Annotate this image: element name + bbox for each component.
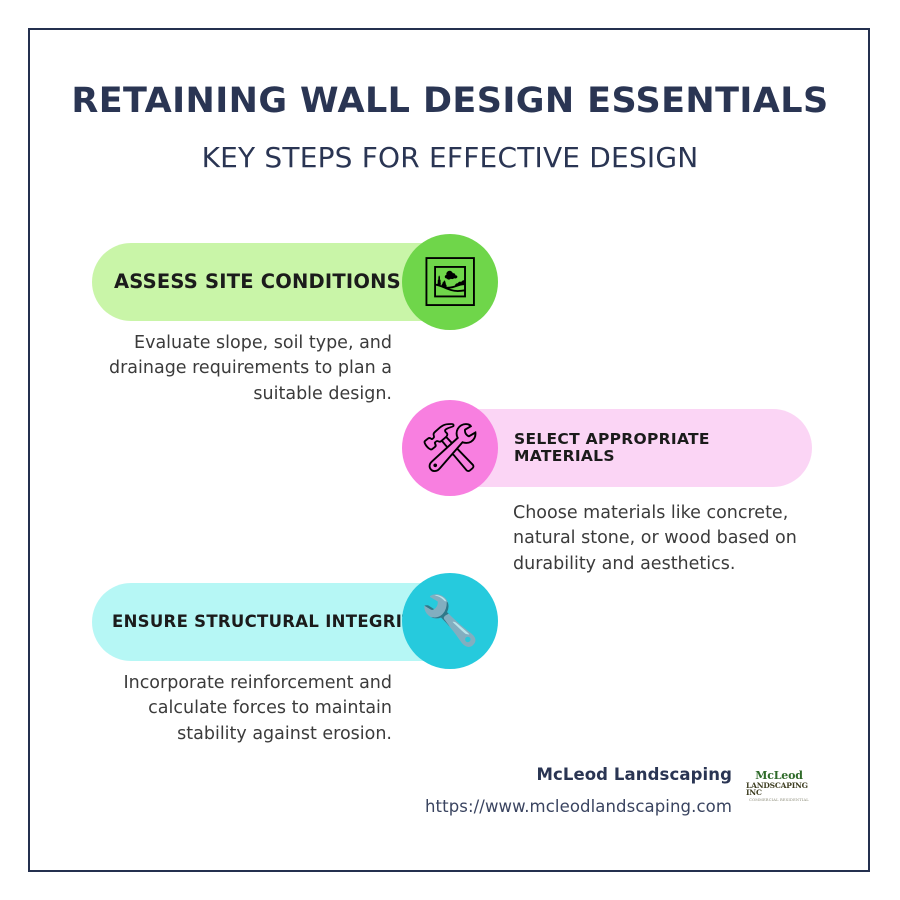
brand-name-row: McLeod Landscaping	[380, 765, 732, 784]
step-3-label: ENSURE STRUCTURAL INTEGRITY	[112, 613, 426, 631]
page-subtitle: KEY STEPS FOR EFFECTIVE DESIGN	[50, 143, 850, 174]
logo-secondary-text: LANDSCAPING INC	[746, 782, 812, 797]
step-2-icon-circle[interactable]: 🛠	[402, 400, 498, 496]
header: RETAINING WALL DESIGN ESSENTIALS KEY STE…	[50, 82, 850, 174]
brand-url[interactable]: https://www.mcleodlandscaping.com	[380, 797, 732, 816]
framed-picture-icon: 🖼	[420, 258, 481, 306]
brand-name: McLeod Landscaping	[536, 765, 732, 784]
step-3-description: Incorporate reinforcement and calculate …	[95, 671, 392, 747]
step-1-description: Evaluate slope, soil type, and drainage …	[95, 331, 392, 407]
step-1-label: ASSESS SITE CONDITIONS	[114, 271, 401, 292]
logo-tagline-text: COMMERCIAL RESIDENTIAL	[749, 799, 809, 803]
company-logo: McLeod LANDSCAPING INC COMMERCIAL RESIDE…	[746, 769, 812, 803]
step-1-icon-circle[interactable]: 🖼	[402, 234, 498, 330]
step-2-label: SELECT APPROPRIATE MATERIALS	[514, 431, 812, 465]
hammer-and-wrench-icon: 🛠	[420, 424, 481, 472]
wrench-icon: 🔧	[420, 597, 480, 645]
page-title: RETAINING WALL DESIGN ESSENTIALS	[50, 82, 850, 121]
step-2-description: Choose materials like concrete, natural …	[513, 501, 813, 577]
logo-primary-text: McLeod	[755, 770, 802, 781]
infographic-canvas: RETAINING WALL DESIGN ESSENTIALS KEY STE…	[0, 0, 900, 900]
step-3-icon-circle[interactable]: 🔧	[402, 573, 498, 669]
